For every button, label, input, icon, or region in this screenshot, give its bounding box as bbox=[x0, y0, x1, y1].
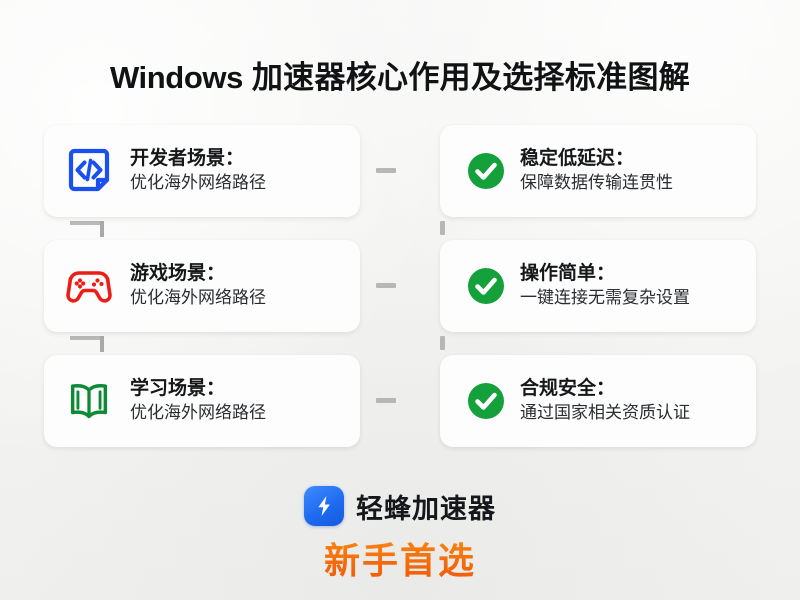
card-text: 操作简单： 一键连接无需复杂设置 bbox=[520, 263, 690, 308]
card-title: 稳定低延迟： bbox=[520, 148, 673, 170]
connector-row1-columns bbox=[376, 168, 396, 173]
code-document-icon bbox=[64, 146, 114, 196]
card-title: 合规安全： bbox=[520, 378, 690, 400]
card-description: 优化海外网络路径 bbox=[130, 173, 266, 193]
card-gaming-scenario[interactable]: 游戏场景： 优化海外网络路径 bbox=[44, 240, 360, 332]
card-title: 游戏场景： bbox=[130, 263, 266, 285]
card-study-scenario[interactable]: 学习场景： 优化海外网络路径 bbox=[44, 355, 360, 447]
check-circle-icon bbox=[466, 376, 506, 426]
infographic-page: Windows 加速器核心作用及选择标准图解 bbox=[0, 0, 800, 600]
connector-segment-horizontal bbox=[70, 336, 104, 340]
lightning-bolt-icon bbox=[304, 486, 344, 526]
card-simple-operation[interactable]: 操作简单： 一键连接无需复杂设置 bbox=[440, 240, 756, 332]
gamepad-icon bbox=[64, 261, 114, 311]
card-title: 学习场景： bbox=[130, 378, 266, 400]
card-text: 稳定低延迟： 保障数据传输连贯性 bbox=[520, 148, 673, 193]
card-text: 开发者场景： 优化海外网络路径 bbox=[130, 148, 266, 193]
check-circle-icon bbox=[466, 261, 506, 311]
connector-row2-columns bbox=[376, 283, 396, 288]
card-description: 优化海外网络路径 bbox=[130, 403, 266, 423]
page-title: Windows 加速器核心作用及选择标准图解 bbox=[0, 52, 800, 97]
page-title-cjk: 加速器核心作用及选择标准图解 bbox=[252, 60, 690, 95]
page-title-latin: Windows bbox=[110, 60, 243, 95]
connector-right-row1-row2 bbox=[440, 221, 445, 235]
card-description: 优化海外网络路径 bbox=[130, 288, 266, 308]
tagline: 新手首选 bbox=[0, 532, 800, 584]
brand-lockup: 轻蜂加速器 bbox=[0, 486, 800, 526]
card-compliance-security[interactable]: 合规安全： 通过国家相关资质认证 bbox=[440, 355, 756, 447]
card-text: 游戏场景： 优化海外网络路径 bbox=[130, 263, 266, 308]
card-developer-scenario[interactable]: 开发者场景： 优化海外网络路径 bbox=[44, 125, 360, 217]
connector-segment-vertical bbox=[100, 336, 104, 352]
card-stable-low-latency[interactable]: 稳定低延迟： 保障数据传输连贯性 bbox=[440, 125, 756, 217]
connector-segment-vertical bbox=[100, 221, 104, 237]
connector-segment-horizontal bbox=[70, 221, 104, 225]
connector-right-row2-row3 bbox=[440, 336, 445, 350]
card-description: 一键连接无需复杂设置 bbox=[520, 288, 690, 308]
open-book-icon bbox=[64, 376, 114, 426]
card-title: 操作简单： bbox=[520, 263, 690, 285]
brand-name: 轻蜂加速器 bbox=[356, 487, 496, 526]
card-text: 合规安全： 通过国家相关资质认证 bbox=[520, 378, 690, 423]
card-text: 学习场景： 优化海外网络路径 bbox=[130, 378, 266, 423]
connector-row3-columns bbox=[376, 398, 396, 403]
card-description: 保障数据传输连贯性 bbox=[520, 173, 673, 193]
card-title: 开发者场景： bbox=[130, 148, 266, 170]
check-circle-icon bbox=[466, 146, 506, 196]
cards-grid: 开发者场景： 优化海外网络路径 游戏场景： 优化海外 bbox=[44, 125, 756, 455]
card-description: 通过国家相关资质认证 bbox=[520, 403, 690, 423]
